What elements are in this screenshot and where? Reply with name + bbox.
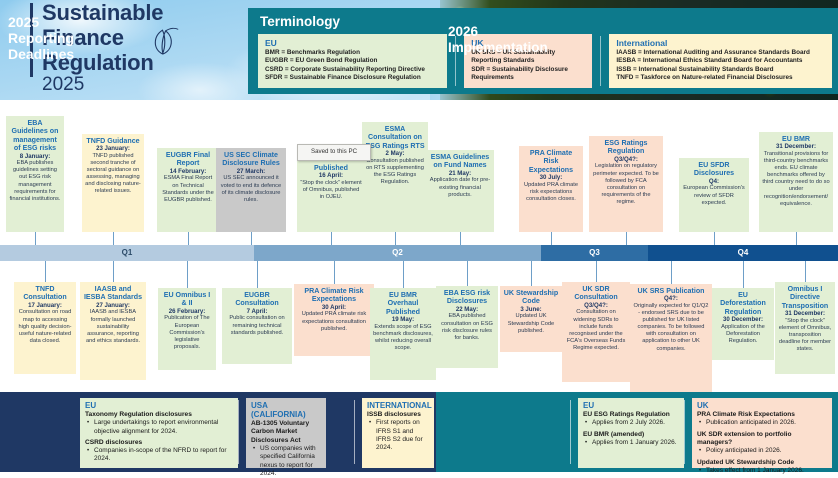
event-body: Extends scope of ESG benchmark disclosur…	[373, 324, 433, 352]
event-date: 31 December:	[778, 310, 832, 318]
event-connector-line	[460, 232, 461, 245]
band-region-title: UK	[697, 401, 827, 410]
event-connector-line	[671, 261, 672, 284]
event-body: Publication of The European Commission's…	[161, 315, 213, 350]
timeline-event-card[interactable]: EU BMR31 December:Transitional provision…	[759, 132, 833, 232]
infographic-page: Sustainable Finance Regulation 2025 Term…	[0, 0, 838, 472]
band-divider	[570, 400, 571, 464]
event-title: ESMA Consultation on ESG Ratings RTS	[365, 125, 425, 150]
quarter-label-q3: Q3	[541, 245, 648, 261]
band-subheading: EU BMR (amended)	[583, 431, 679, 439]
reporting-deadlines-label: 2025 Reporting Deadlines	[8, 14, 78, 62]
timeline-event-card[interactable]: PRA Climate Risk Expectations30 July:Upd…	[519, 146, 583, 232]
band-item-list: Policy anticipated in 2026.	[697, 447, 827, 455]
event-date: 7 April:	[225, 308, 289, 316]
band-region-box: UKPRA Climate Risk ExpectationsPublicati…	[692, 398, 832, 468]
band-subheading: AB-1305 Voluntary Carbon Market Disclosu…	[251, 420, 321, 445]
event-title: EUGBR Final Report	[160, 151, 216, 168]
band-subheading: UK SDR extension to portfolio managers?	[697, 431, 827, 448]
quarter-segment-q1: Q1	[0, 245, 254, 261]
timeline-event-card[interactable]: US SEC Climate Disclosure Rules27 March:…	[216, 148, 286, 232]
event-title: PRA Climate Risk Expectations	[297, 287, 371, 304]
event-connector-line	[796, 232, 797, 245]
timeline-event-card[interactable]: UK SDR ConsultationQ3/Q4?:Consultation o…	[562, 282, 630, 382]
event-title: TNFD Guidance	[85, 137, 141, 145]
timeline-event-card[interactable]: EU Deforestation Regulation30 December:A…	[712, 288, 774, 360]
event-connector-line	[188, 232, 189, 245]
band-item-list: First reports on IFRS S1 and IFRS S2 due…	[367, 419, 429, 452]
band-region-box: USA (CALIFORNIA)AB-1305 Voluntary Carbon…	[246, 398, 326, 468]
event-body: TNFD published second tranche of sectora…	[85, 153, 141, 196]
event-connector-line	[113, 261, 114, 282]
timeline-event-card[interactable]: TNFD Guidance23 January:TNFD published s…	[82, 134, 144, 232]
event-title: ESMA Guidelines on Fund Names	[429, 153, 491, 170]
event-connector-line	[35, 232, 36, 245]
band-subheading: ISSB disclosures	[367, 411, 429, 419]
event-title: UK SDR Consultation	[565, 285, 627, 302]
event-connector-line	[331, 232, 332, 245]
event-body: EBA published consultation on ESG risk d…	[439, 313, 495, 341]
timeline-event-card[interactable]: EU Omnibus I & II26 February:Publication…	[158, 288, 216, 370]
event-title: EU BMR Overhaul Published	[373, 291, 433, 316]
band-subheading: CSRD disclosures	[85, 439, 233, 447]
quarter-segment-q3: Q3	[541, 245, 648, 261]
event-date: 8 January:	[9, 153, 61, 161]
event-date: 21 May:	[429, 170, 491, 178]
timeline-event-card[interactable]: UK SRS PublicationQ4?:Originally expecte…	[630, 284, 712, 392]
quarter-segment-q4: Q4	[648, 245, 838, 261]
event-body: Consultation on road map to accessing hi…	[17, 309, 73, 344]
event-date: 30 July:	[522, 174, 580, 182]
band-item-list: Applies from 2 July 2026.	[583, 419, 679, 427]
band-list-item: Publication anticipated in 2026.	[706, 419, 827, 427]
band-list-item: Companies in-scope of the NFRD to report…	[94, 447, 233, 463]
event-body: Public consultation on remaining technic…	[225, 315, 289, 336]
band-item-list: Publication anticipated in 2026.	[697, 419, 827, 427]
event-body: Application of the Deforestation Regulat…	[715, 324, 771, 345]
event-connector-line	[395, 232, 396, 245]
saved-to-pc-tooltip: Saved to this PC	[297, 144, 371, 161]
event-date: Q3/Q4?:	[565, 302, 627, 310]
event-connector-line	[334, 261, 335, 284]
band-subheading: EU ESG Ratings Regulation	[583, 411, 679, 419]
event-body: ESMA Final Report on Technical Standards…	[160, 175, 216, 203]
timeline-event-card[interactable]: EU BMR Overhaul Published19 May:Extends …	[370, 288, 436, 380]
timeline-event-card[interactable]: IAASB and IESBA Standards27 January:IAAS…	[80, 282, 146, 380]
band-region-title: EU	[85, 401, 233, 410]
band-list-item: Policy anticipated in 2026.	[706, 447, 827, 455]
event-body: Updated PRA climate risk expectations co…	[297, 311, 371, 332]
band-list-item: US companies with specified California n…	[260, 445, 321, 478]
band-item-list: Companies in-scope of the NFRD to report…	[85, 447, 233, 463]
timeline-event-card[interactable]: UK Stewardship Code3 June:Updated UK Ste…	[500, 286, 562, 352]
event-body: US SEC announced it voted to end its def…	[219, 175, 283, 203]
band-item-list: Applies from 1 January 2026.	[583, 439, 679, 447]
quarter-segment-q2: Q2	[254, 245, 541, 261]
event-connector-line	[257, 261, 258, 288]
band-item-list: US companies with specified California n…	[251, 445, 321, 478]
event-connector-line	[805, 261, 806, 282]
event-date: 19 May:	[373, 316, 433, 324]
event-connector-line	[626, 232, 627, 245]
event-date: 22 May:	[439, 306, 495, 314]
event-title: TNFD Consultation	[17, 285, 73, 302]
band-list-item: Takes effect from 1 January 2026.	[706, 467, 827, 475]
timeline-event-card[interactable]: EUGBR Final Report14 February:ESMA Final…	[157, 148, 219, 232]
timeline-event-card[interactable]: ESG Ratings RegulationQ3/Q4?:Legislation…	[589, 136, 663, 232]
timeline-event-card[interactable]: EBA Guidelines on management of ESG risk…	[6, 116, 64, 232]
event-title: EU SFDR Disclosures	[682, 161, 746, 178]
band-subheading: PRA Climate Risk Expectations	[697, 411, 827, 419]
event-body: IAASB and IESBA formally launched sustai…	[83, 309, 143, 344]
event-title: EU Deforestation Regulation	[715, 291, 771, 316]
event-date: 2 May:	[365, 150, 425, 158]
band-divider	[684, 400, 685, 464]
quarter-label-q4: Q4	[648, 245, 838, 261]
event-title: ESG Ratings Regulation	[592, 139, 660, 156]
band-subheading: Updated UK Stewardship Code	[697, 459, 827, 467]
event-date: 31 December:	[762, 143, 830, 151]
event-date: 27 March:	[219, 168, 283, 176]
band-divider	[354, 400, 355, 464]
band-subheading: Taxonomy Regulation disclosures	[85, 411, 233, 419]
band-region-box: EUTaxonomy Regulation disclosuresLarge u…	[80, 398, 238, 468]
timeline-event-card[interactable]: EUGBR Consultation7 April:Public consult…	[222, 288, 292, 364]
band-region-title: USA (CALIFORNIA)	[251, 401, 321, 419]
event-connector-line	[187, 261, 188, 288]
event-connector-line	[403, 261, 404, 288]
band-item-list: Large undertakings to report environment…	[85, 419, 233, 435]
event-title: EBA ESG risk Disclosures	[439, 289, 495, 306]
quarter-label-q1: Q1	[0, 245, 254, 261]
band-region-box: INTERNATIONALISSB disclosuresFirst repor…	[362, 398, 434, 468]
band-list-item: Applies from 2 July 2026.	[592, 419, 679, 427]
event-connector-line	[551, 232, 552, 245]
event-connector-line	[596, 261, 597, 282]
event-date: 17 January:	[17, 302, 73, 310]
band-list-item: Applies from 1 January 2026.	[592, 439, 679, 447]
event-connector-line	[45, 261, 46, 282]
timeline-event-card[interactable]: EU SFDR DisclosuresQ4:European Commissio…	[679, 158, 749, 232]
event-date: Q4:	[682, 178, 746, 186]
event-date: Q3/Q4?:	[592, 156, 660, 164]
timeline-event-card[interactable]: Omnibus I Directive Transposition31 Dece…	[775, 282, 835, 374]
event-date: 16 April:	[300, 172, 362, 180]
event-body: Transitional provisions for third-countr…	[762, 151, 830, 208]
event-body: European Commission's review of SFDR exp…	[682, 185, 746, 206]
event-date: 14 February:	[160, 168, 216, 176]
event-connector-line	[251, 232, 252, 245]
implementation-label: 2026 Implementation	[448, 24, 568, 56]
event-body: Updated UK Stewardship Code published.	[503, 313, 559, 334]
event-date: 26 February:	[161, 308, 213, 316]
band-region-box: EUEU ESG Ratings RegulationApplies from …	[578, 398, 684, 468]
event-title: IAASB and IESBA Standards	[83, 285, 143, 302]
band-item-list: Takes effect from 1 January 2026.	[697, 467, 827, 475]
timeline-event-card[interactable]: ESMA Guidelines on Fund Names21 May:Appl…	[426, 150, 494, 232]
event-body: Legislation on regulatory perimeter expe…	[592, 163, 660, 206]
event-body: Originally expected for Q1/Q2 - endorsed…	[633, 303, 709, 353]
timeline-event-card[interactable]: ESMA Consultation on ESG Ratings RTS2 Ma…	[362, 122, 428, 232]
event-body: Consultation published on RTS supplement…	[365, 158, 425, 186]
event-title: PRA Climate Risk Expectations	[522, 149, 580, 174]
quarter-label-q2: Q2	[254, 245, 541, 261]
event-body: Consultation on widening SDRs to include…	[565, 309, 627, 352]
event-title: EU Omnibus I & II	[161, 291, 213, 308]
band-list-item: First reports on IFRS S1 and IFRS S2 due…	[376, 419, 429, 452]
event-date: 23 January:	[85, 145, 141, 153]
band-region-title: INTERNATIONAL	[367, 401, 429, 410]
timeline-event-card[interactable]: PRA Climate Risk Expectations30 April:Up…	[294, 284, 374, 356]
event-body: “Stop the clock” element of Omnibus, pub…	[300, 180, 362, 201]
band-list-item: Large undertakings to report environment…	[94, 419, 233, 435]
event-date: 30 April:	[297, 304, 371, 312]
timeline-event-card[interactable]: TNFD Consultation17 January:Consultation…	[14, 282, 76, 374]
event-connector-line	[714, 232, 715, 245]
timeline-event-card[interactable]: EBA ESG risk Disclosures22 May:EBA publi…	[436, 286, 498, 368]
event-date: 30 December:	[715, 316, 771, 324]
event-body: Updated PRA climate risk expectations co…	[522, 182, 580, 203]
event-body: EBA publishes guidelines setting out ESG…	[9, 160, 61, 203]
band-divider	[238, 400, 239, 464]
event-title: UK SRS Publication	[633, 287, 709, 295]
event-date: Q4?:	[633, 295, 709, 303]
band-region-title: EU	[583, 401, 679, 410]
event-title: US SEC Climate Disclosure Rules	[219, 151, 283, 168]
event-title: EBA Guidelines on management of ESG risk…	[9, 119, 61, 153]
event-title: Omnibus I Directive Transposition	[778, 285, 832, 310]
event-title: UK Stewardship Code	[503, 289, 559, 306]
event-date: 3 June:	[503, 306, 559, 314]
event-connector-line	[743, 261, 744, 288]
event-connector-line	[467, 261, 468, 286]
event-connector-line	[113, 232, 114, 245]
event-title: EUGBR Consultation	[225, 291, 289, 308]
event-connector-line	[531, 261, 532, 286]
event-date: 27 January:	[83, 302, 143, 310]
event-body: Application date for pre-existing financ…	[429, 177, 491, 198]
event-title: EU BMR	[762, 135, 830, 143]
event-body: “Stop the clock” element of Omnibus, tra…	[778, 318, 832, 353]
